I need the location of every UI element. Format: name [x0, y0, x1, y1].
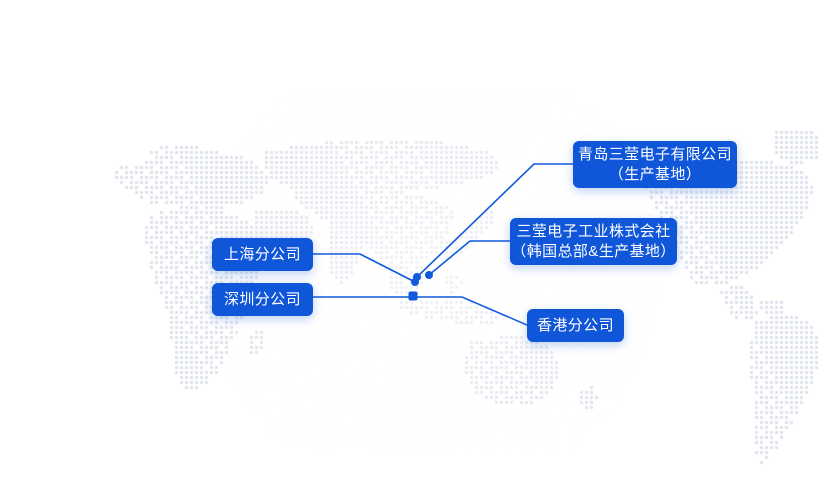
label-line-1: 青岛三莹电子有限公司 — [578, 145, 732, 165]
label-line-2: （韩国总部&生产基地） — [511, 242, 675, 262]
label-line-1: 上海分公司 — [224, 245, 301, 265]
label-line-1: 香港分公司 — [537, 316, 614, 336]
label-line-1: 深圳分公司 — [224, 290, 301, 310]
connector-lines-layer — [0, 0, 824, 480]
label-korea-headquarters[interactable]: 三莹电子工业株式会社 （韩国总部&生产基地） — [510, 218, 677, 265]
label-shanghai-branch[interactable]: 上海分公司 — [212, 238, 313, 271]
world-map-infographic: 青岛三莹电子有限公司 （生产基地） 三莹电子工业株式会社 （韩国总部&生产基地）… — [0, 0, 824, 480]
city-marker-shanghai[interactable] — [411, 278, 419, 286]
connector-shanghai — [313, 254, 415, 282]
label-shenzhen-branch[interactable]: 深圳分公司 — [212, 283, 313, 316]
connector-korea — [429, 241, 510, 275]
label-qingdao-factory[interactable]: 青岛三莹电子有限公司 （生产基地） — [573, 141, 737, 188]
city-marker-shenzhen[interactable] — [409, 292, 418, 301]
label-hongkong-branch[interactable]: 香港分公司 — [527, 309, 624, 342]
label-line-2: （生产基地） — [609, 165, 701, 185]
city-marker-korea[interactable] — [425, 271, 433, 279]
label-line-1: 三莹电子工业株式会社 — [516, 222, 670, 242]
connector-hongkong — [413, 297, 527, 325]
